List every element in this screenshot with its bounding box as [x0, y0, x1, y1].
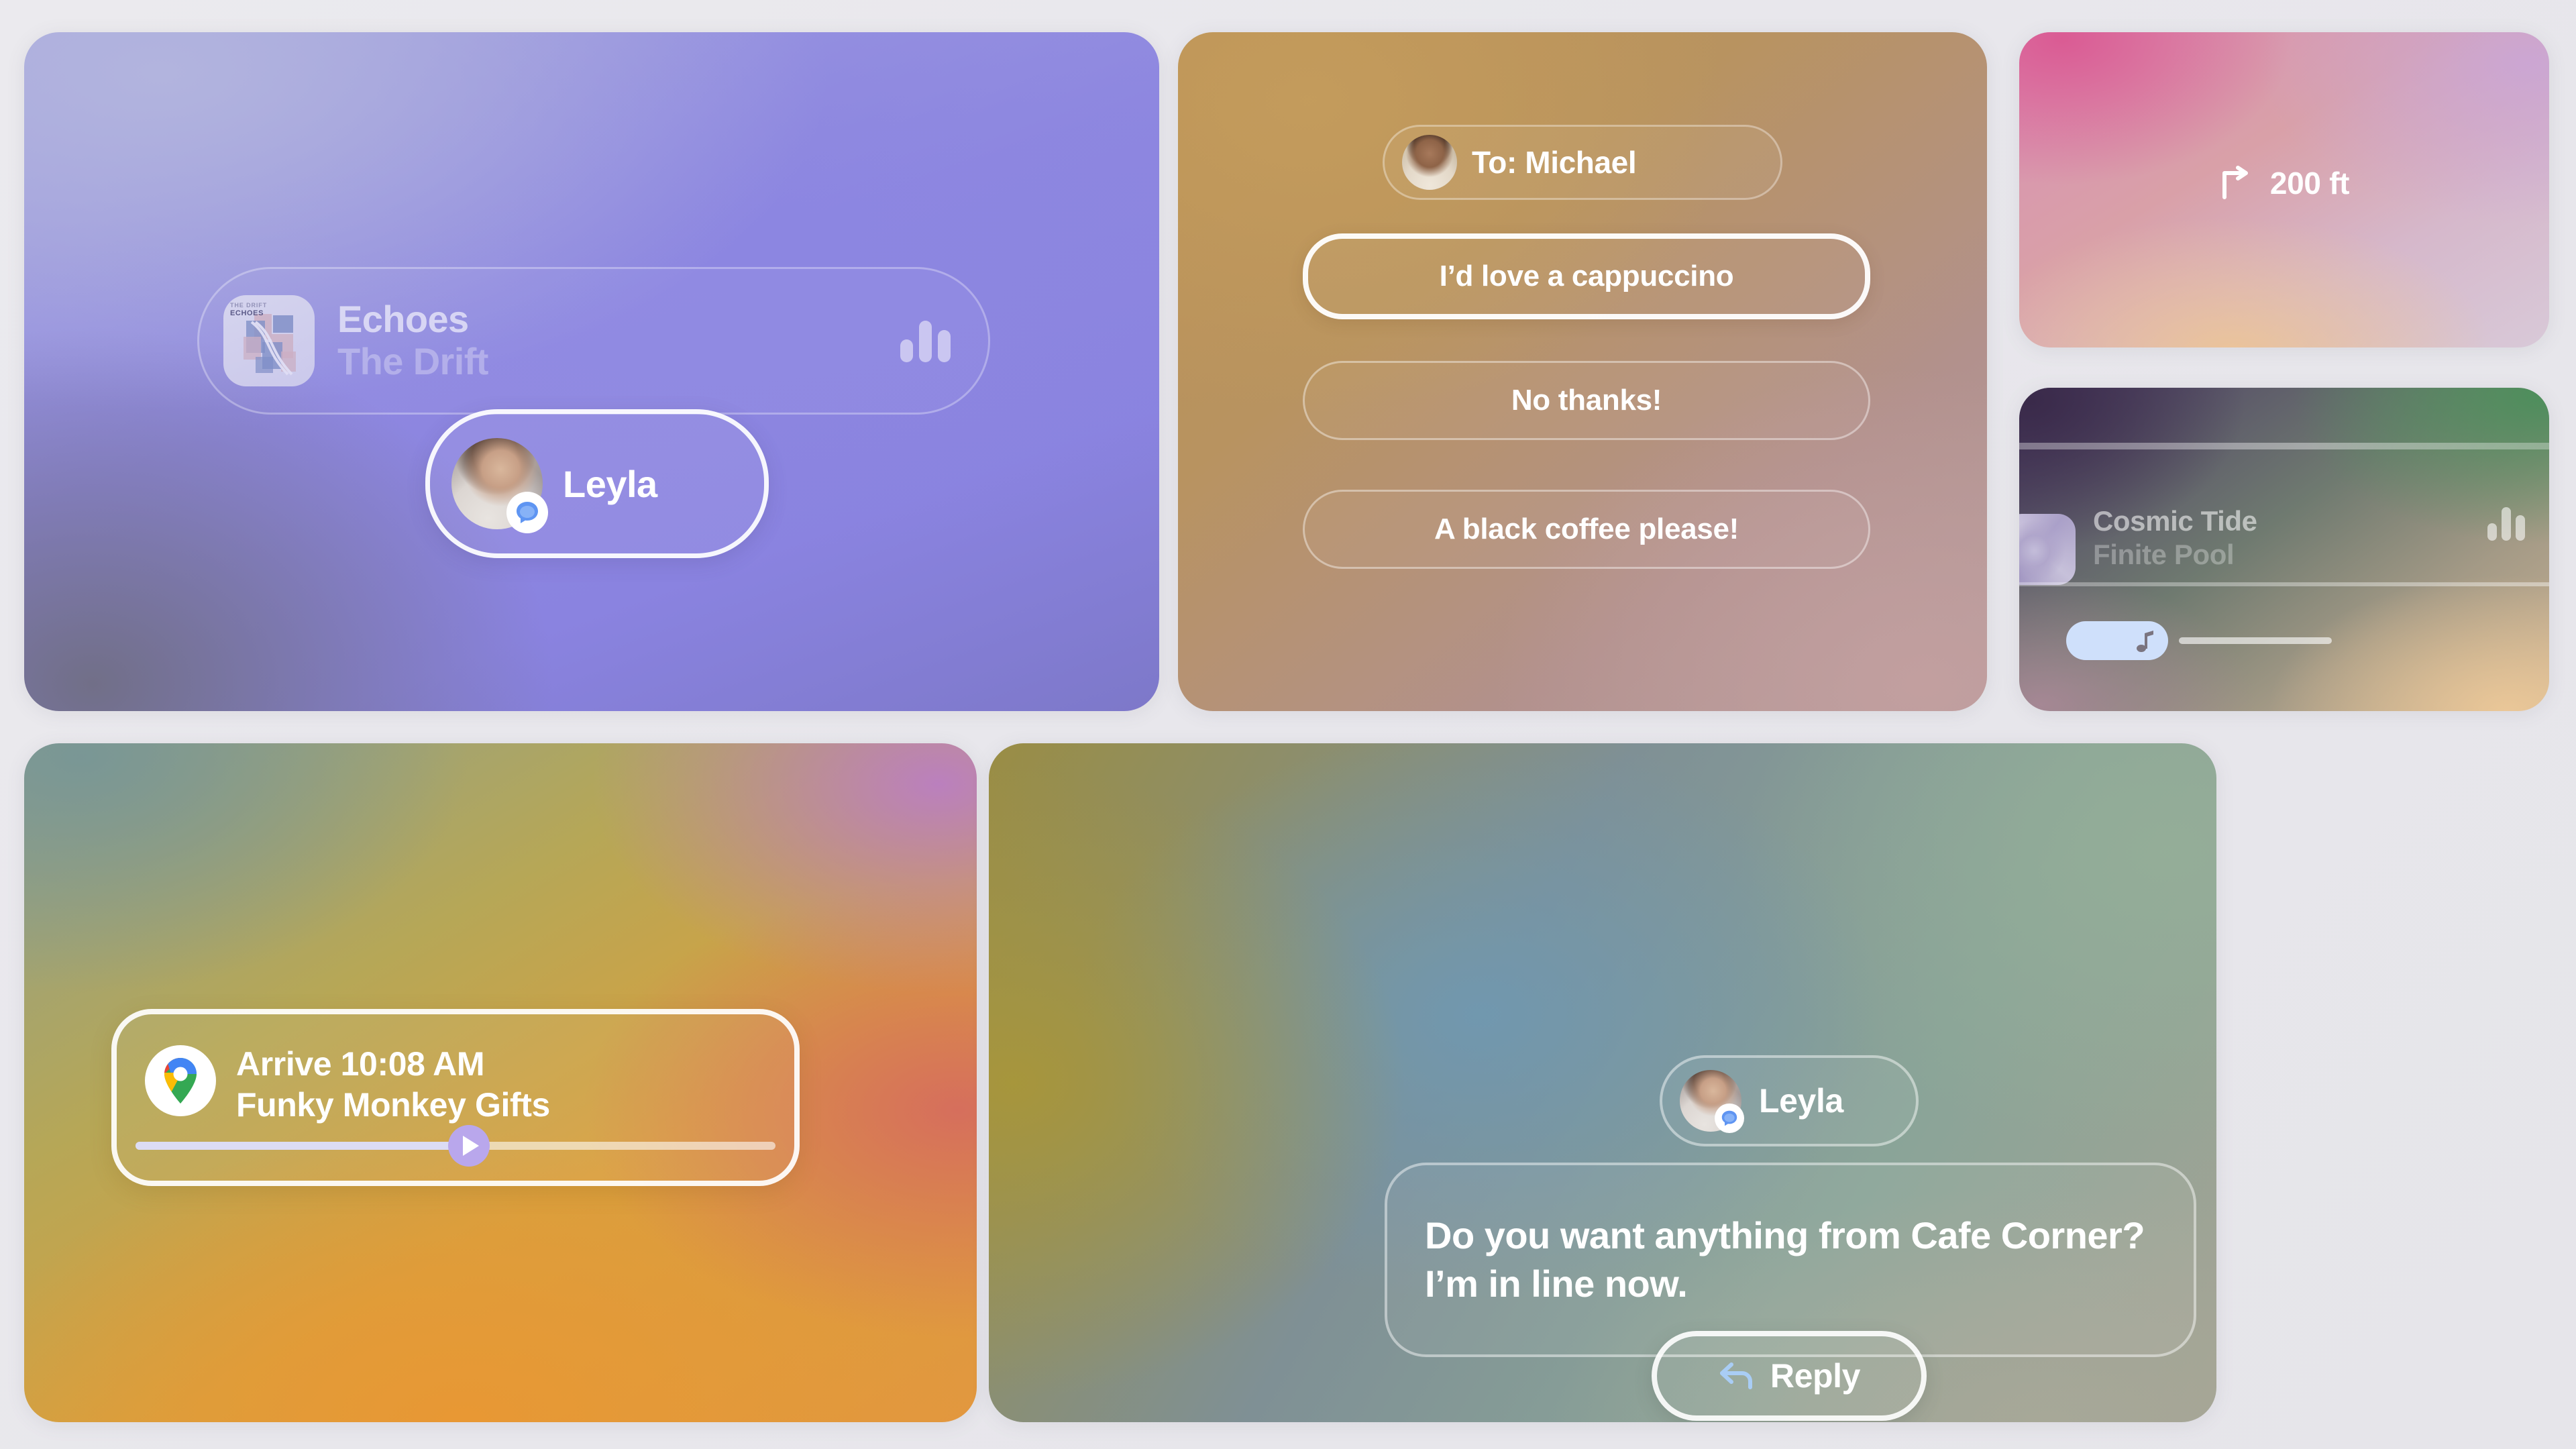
reply-button[interactable]: Reply	[1652, 1331, 1927, 1421]
track-title: Echoes	[337, 299, 900, 341]
reply-option-label: A black coffee please!	[1434, 513, 1739, 546]
music-note-icon	[2136, 629, 2156, 653]
message-bubble: Do you want anything from Cafe Corner? I…	[1385, 1163, 2196, 1357]
arrive-text: Arrive 10:08 AM Funky Monkey Gifts	[236, 1044, 550, 1126]
track-artist: Finite Pool	[2093, 538, 2257, 572]
message-body: Do you want anything from Cafe Corner? I…	[1387, 1212, 2194, 1307]
now-playing-text: Echoes The Drift	[337, 299, 900, 382]
reply-arrow-icon	[1718, 1360, 1754, 1391]
track-title: Cosmic Tide	[2093, 504, 2257, 538]
destination-label: Funky Monkey Gifts	[236, 1085, 550, 1126]
now-playing-pill[interactable]: THE DRIFT ECHOES Echoes The Drift	[197, 267, 990, 415]
reply-option-label: No thanks!	[1511, 384, 1662, 417]
messages-bubble-icon	[1715, 1104, 1744, 1133]
mini-player-meta: Cosmic Tide Finite Pool	[2093, 504, 2257, 571]
reply-option-1[interactable]: No thanks!	[1303, 361, 1870, 440]
avatar-leyla	[1680, 1070, 1741, 1132]
card-mini-player[interactable]: Cosmic Tide Finite Pool	[2019, 388, 2549, 711]
album-art-cosmic-tide	[2019, 514, 2076, 585]
track-artist: The Drift	[337, 341, 900, 383]
arrive-pill[interactable]: Arrive 10:08 AM Funky Monkey Gifts	[111, 1009, 800, 1186]
seek-track-remaining[interactable]	[2179, 637, 2332, 644]
equalizer-bars-icon	[900, 319, 951, 362]
eta-label: Arrive 10:08 AM	[236, 1044, 550, 1085]
avatar-leyla	[451, 438, 543, 529]
messages-bubble-icon	[506, 492, 548, 533]
album-art-title-line: ECHOES	[230, 309, 267, 319]
seek-track[interactable]	[2019, 582, 2549, 586]
divider	[2019, 443, 2549, 449]
google-maps-pin-icon	[145, 1045, 216, 1116]
album-art-artist-line: THE DRIFT	[230, 302, 267, 309]
navigation-row: 200 ft	[2019, 165, 2549, 201]
recipient-label: To: Michael	[1472, 144, 1636, 180]
card-navigation-arrive[interactable]: Arrive 10:08 AM Funky Monkey Gifts 8:32	[24, 743, 977, 1422]
recipient-chip[interactable]: To: Michael	[1383, 125, 1782, 200]
distance-label: 200 ft	[2270, 165, 2349, 201]
card-suggested-replies[interactable]: To: Michael I’d love a cappuccino No tha…	[1178, 32, 1987, 711]
widget-board: THE DRIFT ECHOES Echoes The Drift	[0, 0, 2576, 1449]
reply-option-2[interactable]: A black coffee please!	[1303, 490, 1870, 569]
album-art-text: THE DRIFT ECHOES	[230, 302, 267, 319]
reply-option-label: I’d love a cappuccino	[1440, 260, 1734, 293]
contact-name: Leyla	[563, 462, 657, 506]
seek-thumb[interactable]	[2066, 621, 2168, 660]
reply-button-label: Reply	[1770, 1356, 1860, 1395]
arrow-triangle	[463, 1136, 479, 1156]
card-incoming-message[interactable]: Leyla Do you want anything from Cafe Cor…	[989, 743, 2216, 1422]
avatar-michael	[1402, 135, 1457, 190]
route-progress-fill	[136, 1142, 468, 1150]
contact-chip-leyla[interactable]: Leyla	[425, 409, 769, 558]
turn-right-icon	[2219, 165, 2255, 201]
card-navigation-distance[interactable]: 200 ft	[2019, 32, 2549, 347]
album-art-echoes: THE DRIFT ECHOES	[223, 295, 315, 386]
sender-name: Leyla	[1759, 1081, 1843, 1120]
card-music-now-playing[interactable]: THE DRIFT ECHOES Echoes The Drift	[24, 32, 1159, 711]
navigation-arrow-icon[interactable]	[448, 1125, 490, 1167]
sender-chip[interactable]: Leyla	[1660, 1055, 1919, 1146]
reply-option-0[interactable]: I’d love a cappuccino	[1303, 233, 1870, 319]
equalizer-bars-icon	[2487, 506, 2525, 541]
